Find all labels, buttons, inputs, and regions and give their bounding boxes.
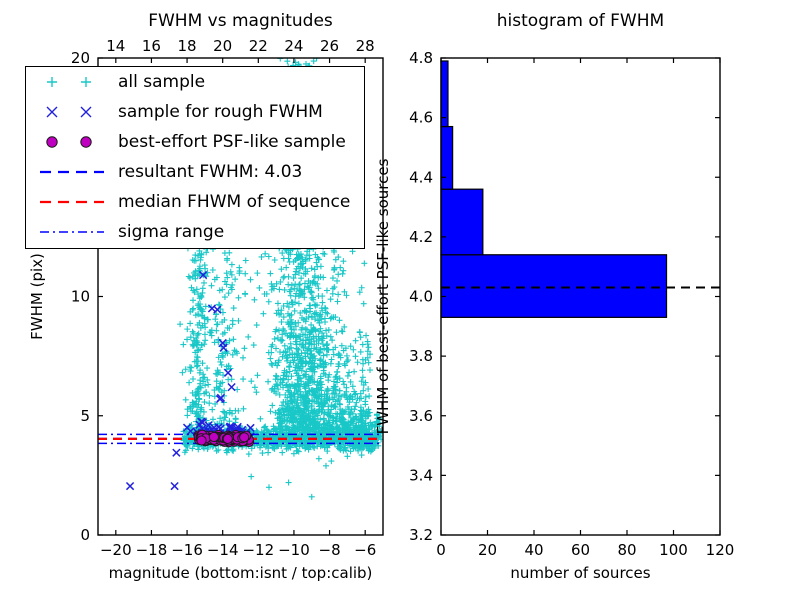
marker-plus [246,451,252,457]
legend-glyph [30,71,114,93]
y-tick-label: 4.6 [409,109,433,127]
marker [81,77,91,87]
marker-plus [352,353,358,359]
marker-plus [251,342,257,348]
marker-plus [340,258,346,264]
marker-plus [213,328,219,334]
marker-plus [266,299,272,305]
histogram-svg: histogram of FWHM020406080100120number o… [400,0,800,600]
marker-plus [309,494,315,500]
marker-plus [355,359,361,365]
marker-plus [357,329,363,335]
x-tick-label: 120 [706,541,735,559]
y-tick-label: 20 [71,49,90,67]
marker-plus [254,372,260,378]
marker-plus [328,334,334,340]
marker-plus [366,393,372,399]
marker-plus [358,334,364,340]
marker-plus [326,327,332,333]
y-tick-label: 10 [71,288,90,306]
marker-plus [232,408,238,414]
marker-plus [340,379,346,385]
marker-plus [272,257,278,263]
marker-plus [179,370,185,376]
marker-plus [201,280,207,286]
marker-plus [235,295,241,301]
marker-plus [190,297,196,303]
marker-plus [309,290,315,296]
marker-plus [208,283,214,289]
marker-plus [292,308,298,314]
marker-plus [206,400,212,406]
legend-marker-plus-icon [26,71,118,93]
marker-plus [351,406,357,412]
marker-plus [351,369,357,375]
marker-plus [358,349,364,355]
marker-plus [276,327,282,333]
marker-plus [226,250,232,256]
marker-plus [340,268,346,274]
marker-plus [187,320,193,326]
marker-plus [312,303,318,309]
marker-plus [329,337,335,343]
marker-plus [202,262,208,268]
legend-item-4: median FHWM of sequence [26,187,364,217]
legend-item-3: resultant FWHM: 4.03 [26,157,364,187]
y-tick-label: 4.8 [409,49,433,67]
marker-plus [228,269,234,275]
y-tick-label: 3.4 [409,466,433,484]
x-top-tick-label: 18 [178,37,197,55]
legend-marker-dot-icon [26,131,118,153]
marker-plus [201,399,207,405]
marker-plus [334,278,340,284]
marker-plus [363,333,369,339]
marker-plus [187,275,193,281]
marker-plus [267,271,273,277]
legend-item-label: sample for rough FWHM [118,102,323,122]
marker-plus [298,275,304,281]
marker-plus [276,286,282,292]
marker-plus [334,369,340,375]
legend-item-0: all sample [26,67,364,97]
marker-plus [281,256,287,262]
marker-plus [230,336,236,342]
series-psf-like [194,430,254,447]
marker-plus [233,416,239,422]
marker-plus [353,400,359,406]
marker-plus [323,463,329,469]
x-tick-label: 40 [524,541,543,559]
marker-plus [229,262,235,268]
marker-plus [344,453,350,459]
marker-cross [224,369,231,376]
x-tick-label: 20 [478,541,497,559]
marker-plus [206,393,212,399]
marker-plus [229,447,235,453]
marker-plus [222,294,228,300]
x-top-tick-label: 14 [106,37,125,55]
marker-plus [320,341,326,347]
marker-dot [223,434,232,443]
marker-plus [286,363,292,369]
left-x-axis-label: magnitude (bottom:isnt / top:calib) [109,564,373,582]
marker-plus [296,301,302,307]
left-y-axis-label: FWHM (pix) [28,253,46,340]
legend-item-5: sigma range [26,217,364,247]
legend-glyph [30,191,114,213]
marker-plus [337,388,343,394]
marker [81,107,91,117]
histogram-bar [441,189,483,255]
marker-plus [234,386,240,392]
marker [47,137,57,147]
x-tick-label: −12 [242,541,274,559]
marker-plus [268,361,274,367]
marker-plus [254,270,260,276]
marker-plus [303,326,309,332]
marker [81,137,91,147]
marker-plus [248,378,254,384]
histogram-bars [441,61,667,317]
marker-plus [319,300,325,306]
marker-dot [209,432,218,441]
marker-plus [352,403,358,409]
legend-item-label: sigma range [118,222,224,242]
marker-plus [335,291,341,297]
marker-plus [190,329,196,335]
x-top-tick-label: 26 [320,37,339,55]
marker-plus [361,301,367,307]
legend-marker-dashdot-icon [26,221,118,243]
marker-plus [266,484,272,490]
marker-plus [235,318,241,324]
marker-plus [330,291,336,297]
marker-plus [245,334,251,340]
x-tick-label: −10 [278,541,310,559]
marker-plus [177,321,183,327]
marker-plus [284,58,290,64]
marker-plus [345,373,351,379]
marker-plus [360,374,366,380]
marker-plus [243,258,249,264]
marker-plus [272,336,278,342]
marker-plus [219,362,225,368]
x-top-tick-label: 20 [213,37,232,55]
right-y-axis-label: FWHM of best-effort PSF-like sources [374,158,392,434]
histogram-bar [441,127,453,190]
marker-plus [259,254,265,260]
legend-item-label: resultant FWHM: 4.03 [118,162,302,182]
marker-plus [309,265,315,271]
marker-plus [229,272,235,278]
histogram-bar [441,61,448,127]
marker-plus [256,285,262,291]
histogram-bar [441,255,667,318]
marker-plus [282,343,288,349]
marker-plus [350,248,356,254]
legend-item-label: all sample [118,72,205,92]
marker-plus [328,296,334,302]
marker-dot [197,436,206,445]
y-tick-label: 0 [80,526,90,544]
marker-plus [266,253,272,259]
marker-plus [274,373,280,379]
marker-plus [231,305,237,311]
legend-item-label: median FHWM of sequence [118,192,350,212]
marker-plus [316,456,322,462]
right-plot-title: histogram of FWHM [497,11,664,31]
marker-plus [204,365,210,371]
marker-plus [324,287,330,293]
legend-glyph [30,131,114,153]
marker-plus [358,395,364,401]
left-plot-title: FWHM vs magnitudes [148,11,333,31]
marker-plus [257,416,263,422]
marker-plus [366,344,372,350]
legend-glyph [30,101,114,123]
marker-plus [363,394,369,400]
marker-plus [278,338,284,344]
x-tick-label: −20 [100,541,132,559]
marker-plus [248,474,254,480]
y-tick-label: 4.4 [409,168,433,186]
x-tick-label: −16 [171,541,203,559]
marker-plus [202,337,208,343]
marker-plus [214,322,220,328]
marker-plus [346,369,352,375]
marker-cross [171,483,178,490]
marker-plus [241,345,247,351]
marker-plus [259,450,265,456]
marker-plus [320,251,326,257]
marker-plus [333,329,339,335]
x-tick-label: 100 [659,541,688,559]
y-tick-label: 5 [80,407,90,425]
legend-item-label: best-effort PSF-like sample [118,132,346,152]
x-tick-label: −6 [354,541,376,559]
marker-plus [240,355,246,361]
marker-plus [265,450,271,456]
marker-plus [328,361,334,367]
y-tick-label: 3.2 [409,526,433,544]
marker-plus [267,356,273,362]
series-rough-fwhm [126,271,254,489]
marker-plus [209,407,215,413]
marker [47,77,57,87]
y-tick-label: 3.6 [409,407,433,425]
x-tick-label: −8 [319,541,341,559]
marker-plus [242,271,248,277]
marker-cross [173,449,180,456]
marker-plus [330,275,336,281]
marker-plus [199,290,205,296]
marker-plus [294,346,300,352]
marker-plus [285,282,291,288]
y-tick-label: 4.0 [409,288,433,306]
marker-plus [281,274,287,280]
y-tick-label: 4.2 [409,228,433,246]
legend-marker-dashed-icon [26,161,118,183]
marker-plus [367,367,373,373]
marker-plus [286,480,292,486]
marker-cross [228,384,235,391]
legend: all samplesample for rough FWHMbest-effo… [25,66,365,249]
marker-plus [344,353,350,359]
x-tick-label: 60 [571,541,590,559]
legend-glyph [30,161,114,183]
marker-plus [190,376,196,382]
marker-plus [251,297,257,303]
legend-marker-dashed-icon [26,191,118,213]
marker-plus [230,318,236,324]
marker-plus [288,334,294,340]
marker-plus [350,347,356,353]
marker-plus [335,299,341,305]
marker-plus [254,322,260,328]
marker-plus [262,251,268,257]
x-top-tick-label: 16 [142,37,161,55]
x-top-tick-label: 28 [356,37,375,55]
marker-plus [229,376,235,382]
marker-plus [328,316,334,322]
legend-item-1: sample for rough FWHM [26,97,364,127]
marker-plus [184,412,190,418]
marker-plus [359,452,365,458]
x-tick-label: 80 [617,541,636,559]
marker-plus [180,342,186,348]
marker-plus [232,276,238,282]
marker-plus [335,271,341,277]
marker-plus [184,326,190,332]
legend-item-2: best-effort PSF-like sample [26,127,364,157]
marker-plus [288,293,294,299]
marker-plus [240,376,246,382]
marker-dot [240,433,249,442]
marker-plus [269,402,275,408]
marker-plus [328,458,334,464]
marker-plus [205,382,211,388]
marker [47,107,57,117]
marker-plus [306,303,312,309]
right-x-axis-label: number of sources [510,564,650,582]
legend-glyph [30,221,114,243]
marker-plus [240,406,246,412]
x-top-tick-label: 22 [249,37,268,55]
legend-marker-cross-icon [26,101,118,123]
marker-plus [265,379,271,385]
marker-plus [275,300,281,306]
marker-plus [260,311,266,317]
marker-plus [253,389,259,395]
marker-plus [318,263,324,269]
marker-plus [280,275,286,281]
marker-cross [126,483,133,490]
marker-plus [361,260,367,266]
marker-plus [210,416,216,422]
marker-plus [366,360,372,366]
x-tick-label: 0 [436,541,446,559]
marker-plus [247,277,253,283]
marker-plus [311,58,317,64]
marker-plus [359,367,365,373]
marker-plus [279,450,285,456]
marker-plus [183,397,189,403]
marker-plus [362,398,368,404]
marker-plus [224,270,230,276]
marker-plus [319,293,325,299]
y-tick-label: 3.8 [409,347,433,365]
left-top-x-ticks: 1416182022242628 [106,37,374,63]
marker-plus [252,384,258,390]
right-panel-histogram: histogram of FWHM020406080100120number o… [400,0,800,600]
marker-plus [226,290,232,296]
marker-plus [336,317,342,323]
x-top-tick-label: 24 [284,37,303,55]
marker-plus [210,267,216,273]
marker-plus [280,377,286,383]
x-tick-label: −18 [136,541,168,559]
marker-plus [186,380,192,386]
marker-plus [267,408,273,414]
figure-canvas: FWHM vs magnitudes−20−18−16−14−12−10−8−6… [0,0,800,600]
marker-plus [337,265,343,271]
marker-plus [315,285,321,291]
x-tick-label: −14 [207,541,239,559]
marker-plus [353,338,359,344]
marker-plus [242,291,248,297]
